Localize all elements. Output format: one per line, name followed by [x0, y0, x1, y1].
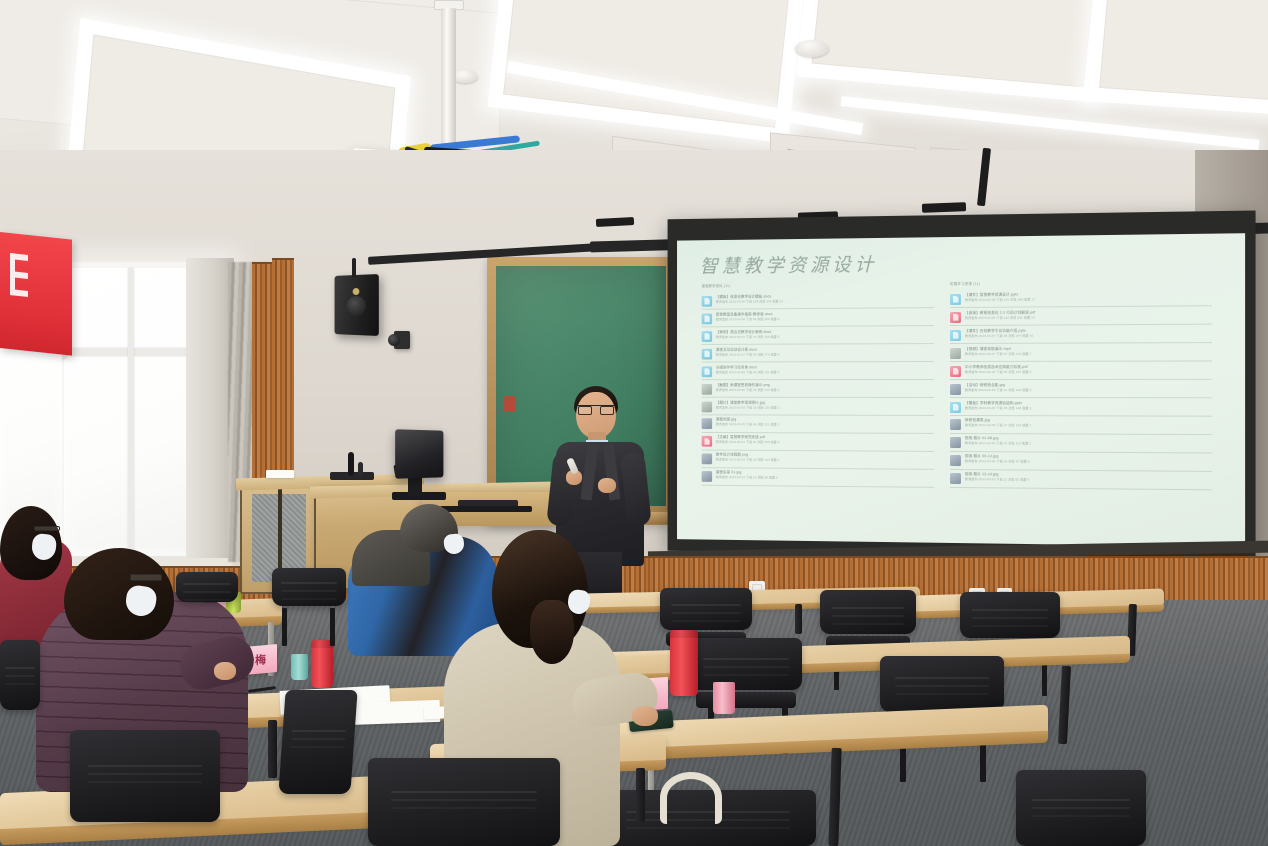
- window-mullion: [128, 268, 134, 556]
- slide-file-meta: 教师发布 2023-03-08 下载 110 浏览 301 收藏 14: [965, 314, 1212, 320]
- slide-file-text: 【模板】学科教学资源包结构.pptx教师发布 2023-03-05 下载 35 …: [965, 401, 1212, 411]
- table-leg: [636, 768, 645, 822]
- chalkboard-clip: [504, 396, 515, 412]
- slide-file-meta: 教师发布 2023-03-05 下载 29 浏览 133 收藏 2: [716, 405, 934, 410]
- eyeglasses: [130, 574, 162, 581]
- slide-file-row: 课程封面.jpg教师发布 2023-03-05 下载 24 浏览 121 收藏 …: [702, 415, 935, 434]
- speaker-cone: [347, 296, 366, 316]
- marker: [348, 452, 354, 476]
- slide-file-row: 【阅读】教育信息化 2.0 行动计划解读.pdf教师发布 2023-03-08 …: [950, 306, 1212, 326]
- slide-file-row: 【模板】信息化教学设计模板.docx教师发布 2023-03-08 下载 128…: [702, 290, 935, 310]
- slide-file-meta: 教师发布 2023-03-07 下载 67 浏览 219 收藏 7: [965, 351, 1212, 356]
- slide-file-text: 中小学教师信息技术应用能力标准.pdf教师发布 2023-03-06 下载 52…: [965, 364, 1212, 374]
- slide-right-column: 拓展学习资源 (11) 【课件】智慧教学资源设计.pptx教师发布 2023-0…: [950, 279, 1212, 491]
- slide-file-meta: 教师发布 2023-03-07 下载 58 浏览 176 收藏 4: [716, 352, 934, 357]
- presenter-hand-right: [598, 478, 616, 493]
- speaker-cable: [352, 258, 356, 278]
- slide-file-text: 课堂实录 01.jpg教师发布 2023-03-03 下载 12 浏览 88 收…: [716, 471, 934, 482]
- slide-file-text: 【活动】研修班合影.jpg教师发布 2023-03-06 下载 41 浏览 16…: [965, 382, 1212, 392]
- ppt-file-icon: [950, 401, 961, 412]
- slide-file-text: 现场 照片 01-08.jpg教师发布 2023-03-04 下载 21 浏览 …: [965, 437, 1212, 448]
- slide-file-text: 课堂互动活动设计表.docx教师发布 2023-03-07 下载 58 浏览 1…: [716, 347, 934, 357]
- imgb-file-icon: [950, 473, 961, 484]
- slide-file-row: 分组协作学习任务单.docx教师发布 2023-03-06 下载 45 浏览 1…: [702, 362, 935, 380]
- imgb-file-icon: [950, 384, 961, 395]
- slide-file-row: 现场 照片 13-14.jpg教师发布 2023-03-03 下载 11 浏览 …: [950, 470, 1212, 490]
- presenter-glasses: [578, 405, 614, 412]
- slide-file-meta: 教师发布 2023-03-04 下载 16 浏览 97 收藏 0: [965, 460, 1212, 466]
- slide-file-row: 【活动】研修班合影.jpg教师发布 2023-03-06 下载 41 浏览 16…: [950, 380, 1212, 398]
- thermos-bottle: [311, 640, 333, 688]
- desk-cable: [440, 506, 532, 512]
- led-ceiling-light: [1084, 0, 1268, 118]
- slide-file-meta: 教师发布 2023-03-05 下载 35 浏览 148 收藏 2: [965, 406, 1212, 411]
- slide-file-row: 【课件】在线教学平台功能介绍.pptx教师发布 2023-03-07 下载 88…: [950, 325, 1212, 344]
- slide-file-row: 现场 照片 09-12.jpg教师发布 2023-03-04 下载 16 浏览 …: [950, 452, 1212, 472]
- ppt-file-icon: [950, 294, 961, 305]
- slide-file-meta: 教师发布 2023-03-06 下载 52 浏览 187 收藏 6: [965, 369, 1212, 374]
- slide-file-text: 智慧教室设备操作指南-教师版.docx教师发布 2023-03-08 下载 96…: [716, 311, 934, 322]
- slide-file-meta: 教师发布 2023-03-05 下载 27 浏览 126 收藏 1: [965, 424, 1212, 430]
- jbl-wall-speaker: [335, 274, 379, 336]
- slide-file-row: 【案例】混合式教学设计案例.docx教师发布 2023-03-07 下载 74 …: [702, 326, 935, 345]
- slide-file-row: 课堂实录 01.jpg教师发布 2023-03-03 下载 12 浏览 88 收…: [702, 468, 935, 488]
- slide-file-meta: 教师发布 2023-03-07 下载 74 浏览 198 收藏 5: [716, 334, 934, 339]
- classroom-photo-scene: EPSON 智慧教学资源设计: [0, 0, 1268, 846]
- slide-file-row: 中小学教师信息技术应用能力标准.pdf教师发布 2023-03-06 下载 52…: [950, 361, 1212, 380]
- slide-file-text: 现场 照片 09-12.jpg教师发布 2023-03-04 下载 16 浏览 …: [965, 455, 1212, 466]
- desktop-monitor: [395, 429, 443, 479]
- red-banner: [0, 232, 72, 356]
- imgb-file-icon: [950, 419, 961, 430]
- camera-icon: [394, 331, 410, 349]
- pdf-file-icon: [702, 436, 712, 447]
- imgb-file-icon: [702, 419, 712, 430]
- audience-person-hand: [632, 706, 658, 726]
- slide-file-row: 教学设计流程图.png教师发布 2023-03-04 下载 18 浏览 104 …: [702, 450, 935, 469]
- smoke-detector-icon: [795, 40, 829, 57]
- projection-screen-surface: 智慧教学资源设计 课程教学资料 (11) 【模板】信息化教学设计模板.docx教…: [677, 233, 1245, 547]
- table-leg: [268, 720, 277, 778]
- slide-file-text: 课程封面.jpg教师发布 2023-03-05 下载 24 浏览 121 收藏 …: [716, 418, 934, 428]
- projection-screen-frame: 智慧教学资源设计 课程教学资料 (11) 【模板】信息化教学设计模板.docx教…: [668, 211, 1256, 560]
- speaker-tweeter: [353, 288, 360, 295]
- slide-left-column: 课程教学资料 (11) 【模板】信息化教学设计模板.docx教师发布 2023-…: [702, 281, 935, 487]
- eyeglasses: [34, 526, 60, 531]
- word-file-icon: [702, 331, 712, 342]
- pdf-file-icon: [950, 312, 961, 323]
- slide-file-row: 【视频】课堂录制演示.mp4教师发布 2023-03-07 下载 67 浏览 2…: [950, 343, 1212, 362]
- slide-file-meta: 教师发布 2023-03-07 下载 88 浏览 244 收藏 10: [965, 332, 1212, 338]
- slide-file-row: 课堂互动活动设计表.docx教师发布 2023-03-07 下载 58 浏览 1…: [702, 344, 935, 362]
- led-ceiling-light: [796, 0, 1112, 102]
- imgb-file-icon: [950, 437, 961, 448]
- pdf-file-icon: [950, 366, 961, 377]
- slide-file-meta: 教师发布 2023-03-08 下载 96 浏览 255 收藏 8: [716, 316, 934, 322]
- slide-file-meta: 教师发布 2023-03-08 下载 128 浏览 342 收藏 12: [716, 298, 934, 304]
- ppt-file-icon: [950, 330, 961, 341]
- img-file-icon: [950, 348, 961, 359]
- slide-file-meta: 教师发布 2023-03-06 下载 33 浏览 140 收藏 2: [716, 387, 934, 392]
- slide-file-text: 分组协作学习任务单.docx教师发布 2023-03-06 下载 45 浏览 1…: [716, 365, 934, 375]
- camera-lens: [388, 334, 400, 346]
- slide-file-row: 【模板】学科教学资源包结构.pptx教师发布 2023-03-05 下载 35 …: [950, 398, 1212, 417]
- word-file-icon: [702, 296, 712, 307]
- slide-file-row: 智慧教室设备操作指南-教师版.docx教师发布 2023-03-08 下载 96…: [702, 308, 935, 327]
- paper-cup: [291, 654, 308, 680]
- slide-file-row: 研修班课表.jpg教师发布 2023-03-05 下载 27 浏览 126 收藏…: [950, 416, 1212, 435]
- img-file-icon: [702, 384, 712, 395]
- slide-file-row: 【图片】课堂教学现场照片.jpg教师发布 2023-03-05 下载 29 浏览…: [702, 398, 935, 416]
- papers-on-lectern: [266, 470, 294, 478]
- slide-file-row: 【文献】智慧教学研究综述.pdf教师发布 2023-03-04 下载 61 浏览…: [702, 433, 935, 452]
- audience-person-hand: [214, 662, 236, 680]
- slide-file-text: 【截图】雨课堂签到操作演示.png教师发布 2023-03-06 下载 33 浏…: [716, 383, 934, 393]
- slide-file-text: 教学设计流程图.png教师发布 2023-03-04 下载 18 浏览 104 …: [716, 453, 934, 464]
- paper-cup: [713, 682, 735, 714]
- slide-file-text: 【模板】信息化教学设计模板.docx教师发布 2023-03-08 下载 128…: [716, 293, 934, 304]
- slide-file-meta: 教师发布 2023-03-03 下载 11 浏览 82 收藏 0: [965, 478, 1212, 485]
- slide-file-meta: 教师发布 2023-03-08 下载 142 浏览 388 收藏 17: [965, 296, 1212, 302]
- table-leg: [795, 604, 802, 634]
- curtain: [186, 258, 234, 558]
- wood-column: [272, 258, 294, 488]
- slide-file-meta: 教师发布 2023-03-06 下载 45 浏览 151 收藏 3: [716, 370, 934, 375]
- screen-mount-bracket: [922, 202, 966, 213]
- slide-file-text: 【案例】混合式教学设计案例.docx教师发布 2023-03-07 下载 74 …: [716, 329, 934, 339]
- slide-file-meta: 教师发布 2023-03-04 下载 21 浏览 113 收藏 1: [965, 442, 1212, 448]
- word-file-icon: [702, 313, 712, 324]
- imgb-file-icon: [702, 471, 712, 482]
- slide-left-column-header: 课程教学资料 (11): [702, 281, 935, 288]
- audience-person-ponytail: [530, 600, 574, 664]
- slide-file-text: 【视频】课堂录制演示.mp4教师发布 2023-03-07 下载 67 浏览 2…: [965, 346, 1212, 356]
- banner-text-glyph: [8, 247, 34, 320]
- word-file-icon: [702, 348, 712, 359]
- slide-file-meta: 教师发布 2023-03-06 下载 41 浏览 162 收藏 3: [965, 388, 1212, 393]
- slide-file-meta: 教师发布 2023-03-04 下载 18 浏览 104 收藏 1: [716, 458, 934, 464]
- slide-right-column-header: 拓展学习资源 (11): [950, 279, 1212, 286]
- slide-file-text: 【文献】智慧教学研究综述.pdf教师发布 2023-03-04 下载 61 浏览…: [716, 435, 934, 446]
- slide-file-text: 【图片】课堂教学现场照片.jpg教师发布 2023-03-05 下载 29 浏览…: [716, 400, 934, 410]
- slide-file-row: 【截图】雨课堂签到操作演示.png教师发布 2023-03-06 下载 33 浏…: [702, 380, 935, 398]
- word-file-icon: [702, 366, 712, 377]
- marker: [358, 462, 363, 478]
- projector-mount-pole: [441, 8, 456, 148]
- slide-file-meta: 教师发布 2023-03-05 下载 24 浏览 121 收藏 1: [716, 423, 934, 428]
- slide-file-meta: 教师发布 2023-03-03 下载 12 浏览 88 收藏 0: [716, 476, 934, 482]
- slide-title: 智慧教学资源设计: [700, 250, 877, 279]
- slide-file-text: 【课件】在线教学平台功能介绍.pptx教师发布 2023-03-07 下载 88…: [965, 327, 1212, 338]
- thermos-bottle: [670, 630, 698, 696]
- slide-file-meta: 教师发布 2023-03-04 下载 61 浏览 205 收藏 9: [716, 440, 934, 446]
- slide-file-row: 现场 照片 01-08.jpg教师发布 2023-03-04 下载 21 浏览 …: [950, 434, 1212, 454]
- slide-file-text: 现场 照片 13-14.jpg教师发布 2023-03-03 下载 11 浏览 …: [965, 473, 1212, 485]
- imgb-file-icon: [950, 455, 961, 466]
- img-file-icon: [702, 401, 712, 412]
- slide-file-row: 【课件】智慧教学资源设计.pptx教师发布 2023-03-08 下载 142 …: [950, 288, 1212, 308]
- slide-file-text: 【阅读】教育信息化 2.0 行动计划解读.pdf教师发布 2023-03-08 …: [965, 309, 1212, 320]
- slide-file-text: 【课件】智慧教学资源设计.pptx教师发布 2023-03-08 下载 142 …: [965, 291, 1212, 303]
- imgb-file-icon: [702, 454, 712, 465]
- slide-file-text: 研修班课表.jpg教师发布 2023-03-05 下载 27 浏览 126 收藏…: [965, 419, 1212, 430]
- handbag-strap: [660, 772, 722, 824]
